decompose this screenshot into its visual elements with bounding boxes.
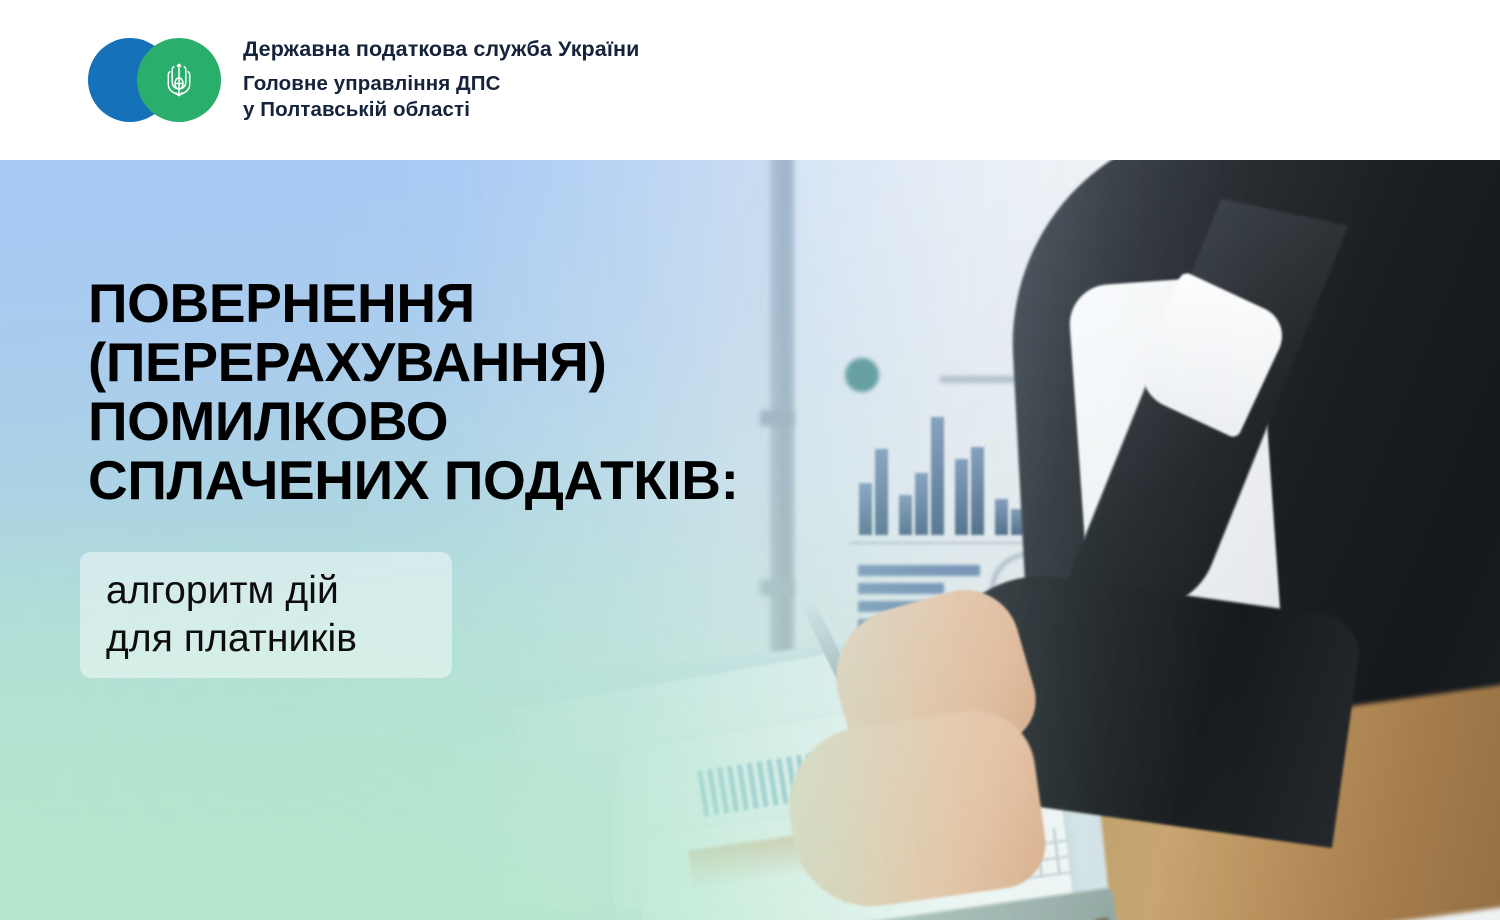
- org-line-2: Головне управління ДПС: [243, 74, 639, 95]
- page-title: ПОВЕРНЕННЯ (ПЕРЕРАХУВАННЯ) ПОМИЛКОВО СПЛ…: [88, 274, 739, 510]
- hero-copy: ПОВЕРНЕННЯ (ПЕРЕРАХУВАННЯ) ПОМИЛКОВО СПЛ…: [0, 160, 1500, 920]
- organization-logo: Державна податкова служба України Головн…: [88, 38, 639, 122]
- logo-marks: [88, 38, 221, 122]
- organization-name: Державна податкова служба України Головн…: [243, 39, 639, 121]
- page-subtitle: алгоритм дій для платників: [106, 567, 452, 663]
- promo-banner: Державна податкова служба України Головн…: [0, 0, 1500, 920]
- header-bar: Державна податкова служба України Головн…: [0, 0, 1500, 160]
- green-circle-icon: [137, 38, 221, 122]
- subtitle-box: алгоритм дій для платників: [80, 552, 452, 678]
- ukrainian-trident-icon: [164, 60, 194, 100]
- org-line-1: Державна податкова служба України: [243, 39, 639, 61]
- org-line-3: у Полтавській області: [243, 100, 639, 121]
